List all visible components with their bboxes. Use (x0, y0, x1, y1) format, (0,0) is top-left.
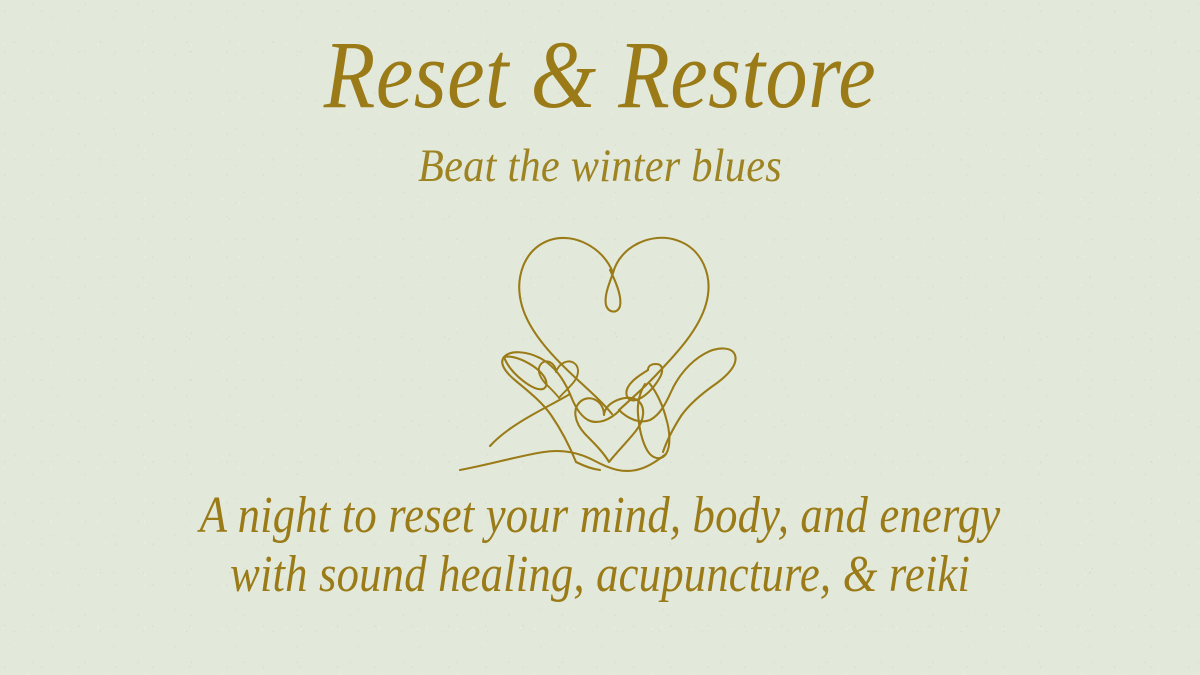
hands-holding-heart-illustration (452, 224, 752, 486)
tagline-line-1: A night to reset your mind, body, and en… (84, 486, 1116, 545)
page-title: Reset & Restore (72, 0, 1128, 124)
tagline-line-2: with sound healing, acupuncture, & reiki (84, 545, 1116, 604)
large-heart-icon (613, 238, 708, 410)
baseline-cross-stroke (576, 462, 600, 470)
headline-block: Reset & Restore Beat the winter blues (0, 0, 1200, 191)
page-subtitle: Beat the winter blues (60, 124, 1140, 191)
heart-cleft-curl (606, 270, 621, 312)
event-poster: Reset & Restore Beat the winter blues (0, 0, 1200, 675)
left-hand-palm-crease (490, 394, 570, 446)
right-hand-outline (619, 348, 736, 421)
flowing-baseline (460, 451, 666, 471)
small-heart-center-icon (575, 398, 643, 462)
tagline-block: A night to reset your mind, body, and en… (0, 486, 1200, 605)
left-hand-thumb (504, 357, 546, 390)
right-hand-knuckle (663, 416, 681, 452)
